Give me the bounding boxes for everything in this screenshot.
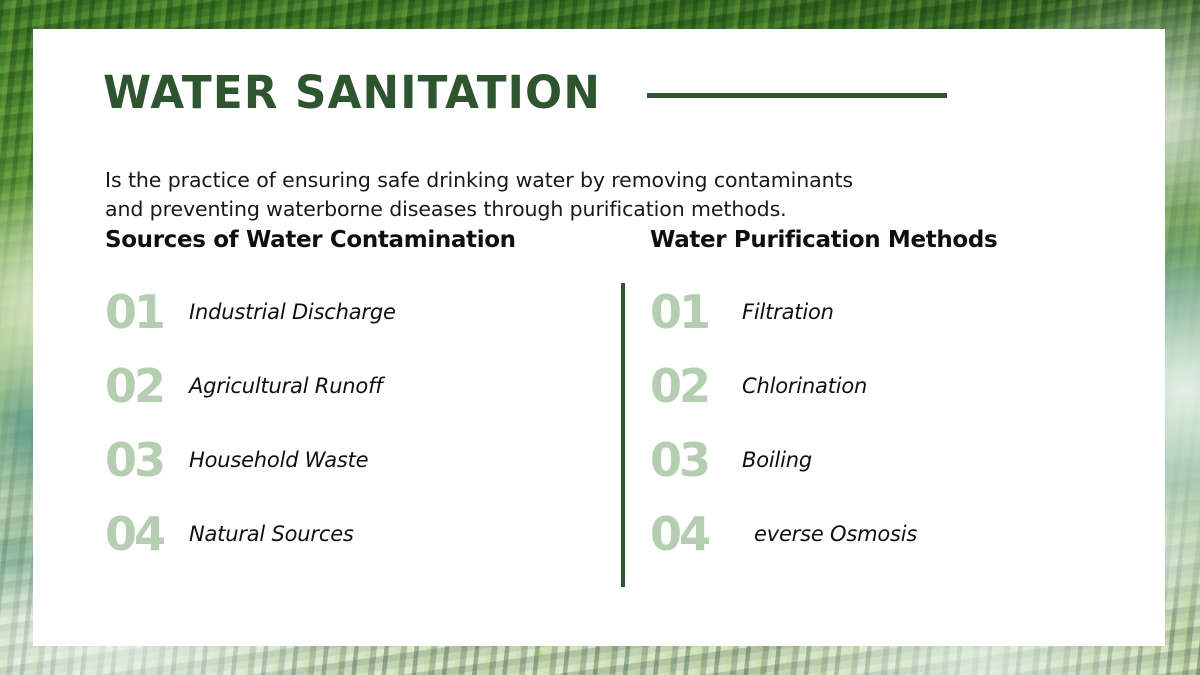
list-item: 04 Natural Sources [105,497,575,571]
list-item: 03 Boiling [650,423,1120,497]
columns-wrapper: Sources of Water Contamination 01 Indust… [33,29,1165,646]
list-item: 02 Chlorination [650,349,1120,423]
list-item: 03 Household Waste [105,423,575,497]
column-heading-right: Water Purification Methods [650,227,1120,253]
list-item-number: 03 [105,437,189,483]
column-sources-of-water-contamination: Sources of Water Contamination 01 Indust… [105,227,575,571]
list-item-label: Chlorination [738,374,867,398]
list-item-label: Boiling [738,448,812,472]
column-water-purification-methods: Water Purification Methods 01 Filtration… [650,227,1120,571]
list-item-number: 04 [650,511,738,557]
list-item-number: 02 [105,363,189,409]
list-item-label: Household Waste [189,448,368,472]
list-item-label: Agricultural Runoff [189,374,382,398]
list-item: 01 Industrial Discharge [105,275,575,349]
list-item: 01 Filtration [650,275,1120,349]
list-item-label: Industrial Discharge [189,300,396,324]
column-heading-left: Sources of Water Contamination [105,227,575,253]
list-item-number: 04 [105,511,189,557]
list-item: 04 everse Osmosis [650,497,1120,571]
list-item-label: everse Osmosis [738,522,917,546]
list-item-label: Natural Sources [189,522,354,546]
list-item-number: 01 [105,289,189,335]
list-item-label: Filtration [738,300,834,324]
list-item-number: 03 [650,437,738,483]
slide-canvas: WATER SANITATION Is the practice of ensu… [0,0,1200,675]
list-item-number: 01 [650,289,738,335]
list-item: 02 Agricultural Runoff [105,349,575,423]
list-item-number: 02 [650,363,738,409]
content-card: WATER SANITATION Is the practice of ensu… [33,29,1165,646]
